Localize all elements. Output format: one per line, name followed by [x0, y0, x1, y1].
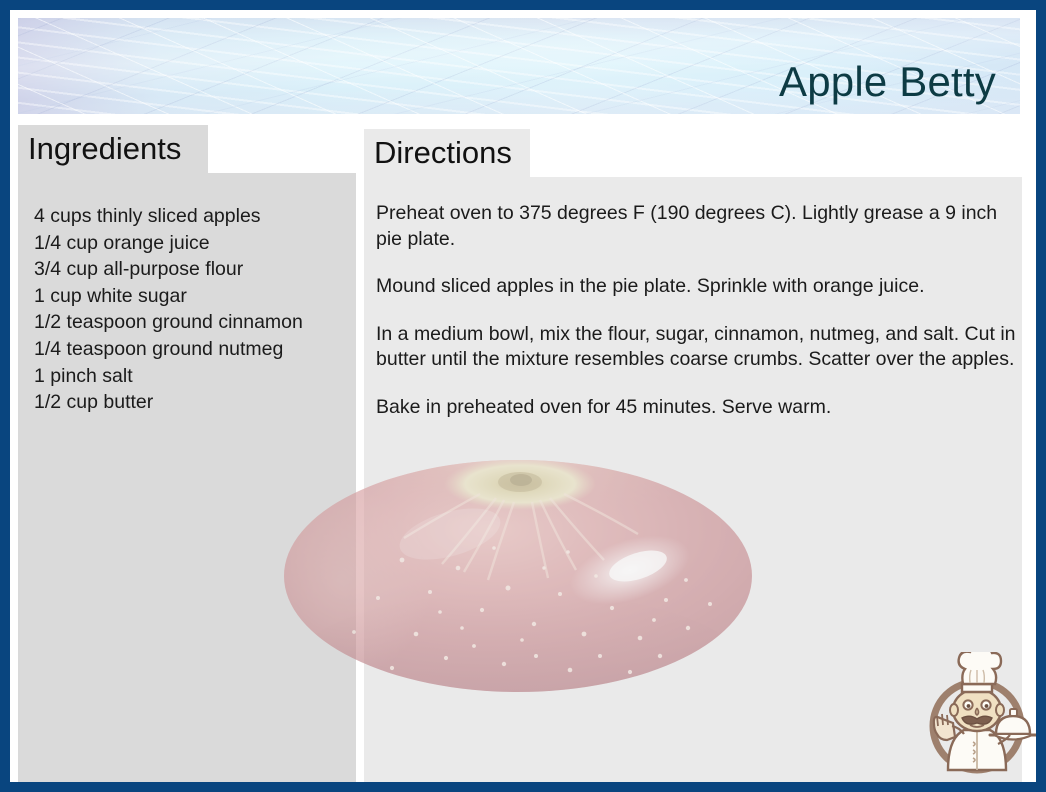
ingredients-panel: 4 cups thinly sliced apples 1/4 cup oran…: [18, 173, 356, 782]
list-item: 1 pinch salt: [34, 363, 354, 390]
direction-step: Bake in preheated oven for 45 minutes. S…: [376, 395, 1024, 421]
slide-content-area: Apple Betty 4 cups thinly sliced apples …: [10, 10, 1036, 782]
ingredients-list: 4 cups thinly sliced apples 1/4 cup oran…: [34, 203, 354, 416]
list-item: 1/2 cup butter: [34, 389, 354, 416]
list-item: 1 cup white sugar: [34, 283, 354, 310]
recipe-slide: Apple Betty 4 cups thinly sliced apples …: [0, 0, 1046, 792]
direction-step: In a medium bowl, mix the flour, sugar, …: [376, 322, 1024, 373]
title-banner: Apple Betty: [18, 18, 1020, 114]
directions-list: Preheat oven to 375 degrees F (190 degre…: [376, 201, 1024, 420]
list-item: 1/4 cup orange juice: [34, 230, 354, 257]
direction-step: Mound sliced apples in the pie plate. Sp…: [376, 274, 1024, 300]
direction-step: Preheat oven to 375 degrees F (190 degre…: [376, 201, 1024, 252]
list-item: 1/2 teaspoon ground cinnamon: [34, 309, 354, 336]
ingredients-header-tab: Ingredients: [18, 125, 208, 174]
directions-heading: Directions: [374, 135, 512, 171]
directions-panel: Preheat oven to 375 degrees F (190 degre…: [364, 177, 1022, 782]
list-item: 1/4 teaspoon ground nutmeg: [34, 336, 354, 363]
directions-header-tab: Directions: [364, 129, 530, 178]
page-title: Apple Betty: [779, 58, 996, 106]
list-item: 4 cups thinly sliced apples: [34, 203, 354, 230]
list-item: 3/4 cup all-purpose flour: [34, 256, 354, 283]
ingredients-heading: Ingredients: [28, 131, 181, 167]
